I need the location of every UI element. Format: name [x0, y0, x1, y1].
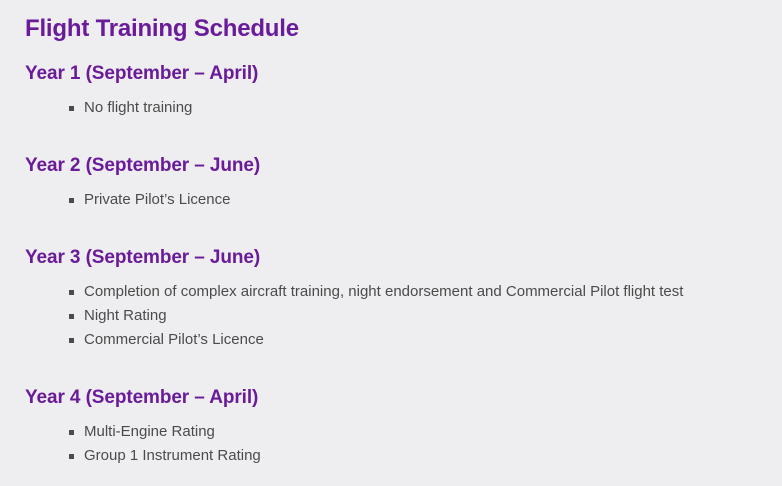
section-heading-year-2: Year 2 (September – June): [25, 154, 260, 178]
list-item-label: Private Pilot’s Licence: [84, 191, 230, 208]
bullet-list-year-4: Multi-Engine Rating Group 1 Instrument R…: [0, 420, 261, 468]
document-page: Flight Training Schedule Year 1 (Septemb…: [0, 0, 782, 486]
square-bullet-icon: [69, 338, 74, 343]
list-item: Multi-Engine Rating: [0, 420, 261, 444]
list-item: Group 1 Instrument Rating: [0, 444, 261, 468]
bullet-list-year-3: Completion of complex aircraft training,…: [0, 280, 683, 352]
square-bullet-icon: [69, 290, 74, 295]
list-item: Commercial Pilot’s Licence: [0, 328, 683, 352]
list-item: Completion of complex aircraft training,…: [0, 280, 683, 304]
bullet-list-year-2: Private Pilot’s Licence: [0, 188, 230, 212]
square-bullet-icon: [69, 430, 74, 435]
section-heading-year-3: Year 3 (September – June): [25, 246, 260, 270]
square-bullet-icon: [69, 106, 74, 111]
bullet-list-year-1: No flight training: [0, 96, 192, 120]
list-item: Night Rating: [0, 304, 683, 328]
list-item: No flight training: [0, 96, 192, 120]
list-item-label: No flight training: [84, 99, 192, 116]
section-heading-year-4: Year 4 (September – April): [25, 386, 258, 410]
list-item-label: Group 1 Instrument Rating: [84, 447, 261, 464]
list-item: Private Pilot’s Licence: [0, 188, 230, 212]
section-heading-year-1: Year 1 (September – April): [25, 62, 258, 86]
list-item-label: Commercial Pilot’s Licence: [84, 331, 264, 348]
square-bullet-icon: [69, 454, 74, 459]
square-bullet-icon: [69, 314, 74, 319]
page-title: Flight Training Schedule: [25, 14, 299, 44]
list-item-label: Night Rating: [84, 307, 167, 324]
square-bullet-icon: [69, 198, 74, 203]
list-item-label: Multi-Engine Rating: [84, 423, 215, 440]
list-item-label: Completion of complex aircraft training,…: [84, 283, 683, 300]
